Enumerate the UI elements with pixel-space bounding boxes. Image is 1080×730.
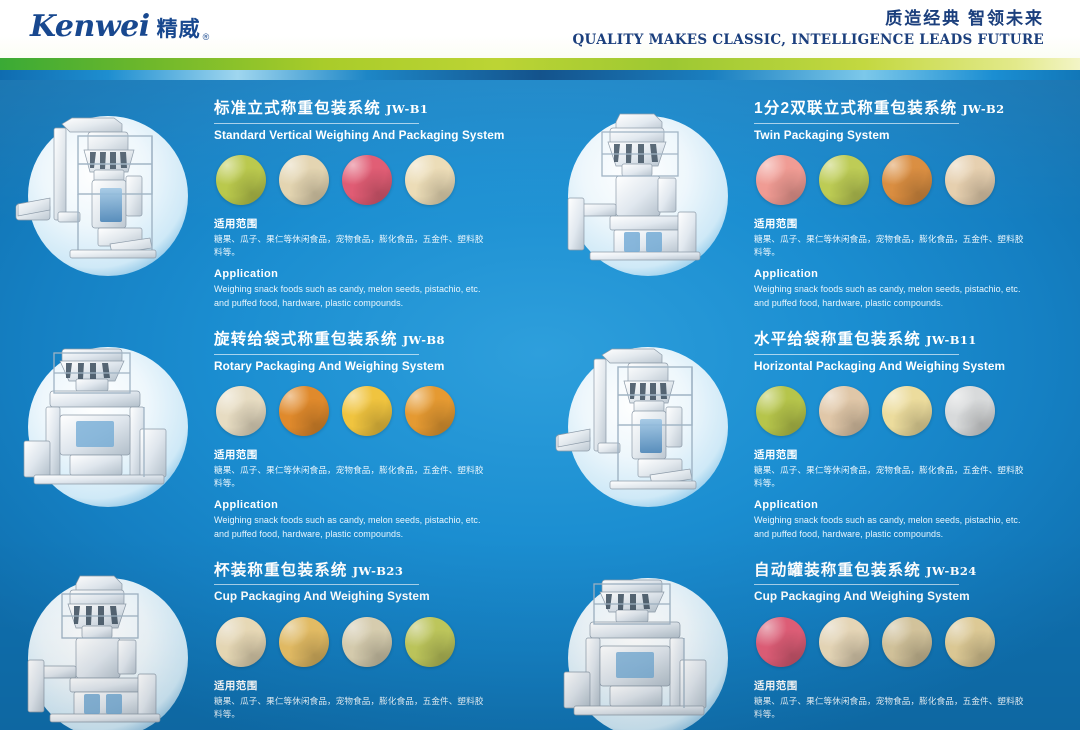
title-underline [754,354,959,355]
product-title-en: Cup Packaging And Weighing System [214,589,524,604]
product-info: 水平给袋称重包装系统JW-B11 Horizontal Packaging An… [750,317,1080,542]
slogan: 质造经典 智领未来 QUALITY MAKES CLASSIC, INTELLI… [573,8,1045,48]
product-title-en: Cup Packaging And Weighing System [754,589,1064,604]
product-info: 自动罐装称重包装系统JW-B24 Cup Packaging And Weigh… [750,548,1080,730]
product-model: JW-B24 [926,564,977,578]
packaging-machine-illustration [10,323,210,523]
scope-body-cn: 糖果、瓜子、果仁等休闲食品，宠物食品，膨化食品，五金件、塑料胶料等。 [754,233,1026,260]
product-info: 1分2双联立式称重包装系统JW-B2 Twin Packaging System… [750,86,1080,311]
brand-logo[interactable]: Kenwei 精威 ® [30,12,209,42]
product-card[interactable]: 水平给袋称重包装系统JW-B11 Horizontal Packaging An… [540,311,1080,542]
food-sample-row [756,155,1064,205]
logo-text-en: Kenwei [30,12,150,42]
product-title-en: Rotary Packaging And Weighing System [214,359,524,374]
divider-blue-bar [0,70,1080,80]
food-sample-circle [405,386,455,436]
food-sample-circle [819,155,869,205]
food-sample-circle [945,386,995,436]
page-header: Kenwei 精威 ® 质造经典 智领未来 QUALITY MAKES CLAS… [0,0,1080,58]
food-sample-circle [216,386,266,436]
food-sample-row [216,617,524,667]
packaging-machine-illustration [550,92,750,292]
divider-green-bar [0,58,1080,70]
application-body-en: Weighing snack foods such as candy, melo… [754,283,1026,311]
food-sample-circle [756,617,806,667]
machine-photo [550,92,750,292]
product-title-cn: 水平给袋称重包装系统JW-B11 [754,331,1064,350]
product-info: 旋转给袋式称重包装系统JW-B8 Rotary Packaging And We… [210,317,540,542]
product-title-cn-text: 杯装称重包装系统 [214,562,348,579]
food-sample-circle [342,617,392,667]
machine-photo [550,554,750,730]
food-sample-circle [279,155,329,205]
food-sample-circle [819,617,869,667]
application-label-en: Application [214,267,524,282]
food-sample-circle [882,155,932,205]
machine-photo [10,554,210,730]
product-title-cn-text: 水平给袋称重包装系统 [754,331,921,348]
product-title-cn: 自动罐装称重包装系统JW-B24 [754,562,1064,581]
product-title-cn-text: 自动罐装称重包装系统 [754,562,921,579]
food-sample-circle [216,617,266,667]
packaging-machine-illustration [550,323,750,523]
product-title-cn: 旋转给袋式称重包装系统JW-B8 [214,331,524,350]
title-underline [214,354,419,355]
product-title-cn-text: 1分2双联立式称重包装系统 [754,100,957,117]
scope-body-cn: 糖果、瓜子、果仁等休闲食品，宠物食品，膨化食品，五金件、塑料胶料等。 [754,695,1026,722]
product-title-en: Horizontal Packaging And Weighing System [754,359,1064,374]
machine-photo [10,92,210,292]
product-grid: 标准立式称重包装系统JW-B1 Standard Vertical Weighi… [0,80,1080,730]
logo-text-cn: 精威 [157,18,201,42]
food-sample-row [216,155,524,205]
food-sample-circle [945,155,995,205]
scope-body-cn: 糖果、瓜子、果仁等休闲食品，宠物食品，膨化食品，五金件、塑料胶料等。 [214,695,486,722]
food-sample-row [756,386,1064,436]
food-sample-circle [342,155,392,205]
application-body-en: Weighing snack foods such as candy, melo… [214,283,486,311]
product-info: 杯装称重包装系统JW-B23 Cup Packaging And Weighin… [210,548,540,730]
product-title-en: Twin Packaging System [754,128,1064,143]
product-title-cn-text: 旋转给袋式称重包装系统 [214,331,398,348]
food-sample-circle [882,386,932,436]
scope-label-cn: 适用范围 [214,217,524,232]
scope-label-cn: 适用范围 [214,679,524,694]
registered-trademark-icon: ® [203,33,210,42]
title-underline [754,123,959,124]
scope-label-cn: 适用范围 [754,679,1064,694]
food-sample-circle [756,155,806,205]
product-title-cn: 标准立式称重包装系统JW-B1 [214,100,524,119]
scope-body-cn: 糖果、瓜子、果仁等休闲食品，宠物食品，膨化食品，五金件、塑料胶料等。 [214,464,486,491]
scope-label-cn: 适用范围 [754,217,1064,232]
title-underline [754,584,959,585]
product-board: 标准立式称重包装系统JW-B1 Standard Vertical Weighi… [0,80,1080,730]
title-underline [214,584,419,585]
application-label-en: Application [754,498,1064,513]
product-model: JW-B8 [403,333,445,347]
title-underline [214,123,419,124]
packaging-machine-illustration [10,554,210,730]
application-body-en: Weighing snack foods such as candy, melo… [214,514,486,542]
machine-photo [10,323,210,523]
food-sample-circle [216,155,266,205]
product-card[interactable]: 标准立式称重包装系统JW-B1 Standard Vertical Weighi… [0,80,540,311]
food-sample-circle [279,386,329,436]
product-info: 标准立式称重包装系统JW-B1 Standard Vertical Weighi… [210,86,540,311]
scope-body-cn: 糖果、瓜子、果仁等休闲食品，宠物食品，膨化食品，五金件、塑料胶料等。 [214,233,486,260]
product-title-cn-text: 标准立式称重包装系统 [214,100,381,117]
packaging-machine-illustration [10,92,210,292]
food-sample-circle [882,617,932,667]
product-title-cn: 1分2双联立式称重包装系统JW-B2 [754,100,1064,119]
application-body-en: Weighing snack foods such as candy, melo… [754,514,1026,542]
food-sample-circle [756,386,806,436]
product-card[interactable]: 杯装称重包装系统JW-B23 Cup Packaging And Weighin… [0,542,540,730]
food-sample-circle [279,617,329,667]
scope-label-cn: 适用范围 [754,448,1064,463]
scope-label-cn: 适用范围 [214,448,524,463]
product-card[interactable]: 自动罐装称重包装系统JW-B24 Cup Packaging And Weigh… [540,542,1080,730]
food-sample-circle [405,155,455,205]
food-sample-row [756,617,1064,667]
product-card[interactable]: 旋转给袋式称重包装系统JW-B8 Rotary Packaging And We… [0,311,540,542]
slogan-cn: 质造经典 智领未来 [573,8,1045,30]
application-label-en: Application [754,267,1064,282]
food-sample-circle [945,617,995,667]
slogan-en: QUALITY MAKES CLASSIC, INTELLIGENCE LEAD… [573,32,1045,48]
product-title-cn: 杯装称重包装系统JW-B23 [214,562,524,581]
application-label-en: Application [214,498,524,513]
food-sample-circle [819,386,869,436]
product-model: JW-B1 [386,102,428,116]
machine-photo [550,323,750,523]
packaging-machine-illustration [550,554,750,730]
product-model: JW-B11 [926,333,977,347]
food-sample-row [216,386,524,436]
food-sample-circle [342,386,392,436]
food-sample-circle [405,617,455,667]
product-model: JW-B23 [353,564,404,578]
scope-body-cn: 糖果、瓜子、果仁等休闲食品，宠物食品，膨化食品，五金件、塑料胶料等。 [754,464,1026,491]
product-model: JW-B2 [962,102,1004,116]
product-title-en: Standard Vertical Weighing And Packaging… [214,128,524,143]
product-card[interactable]: 1分2双联立式称重包装系统JW-B2 Twin Packaging System… [540,80,1080,311]
